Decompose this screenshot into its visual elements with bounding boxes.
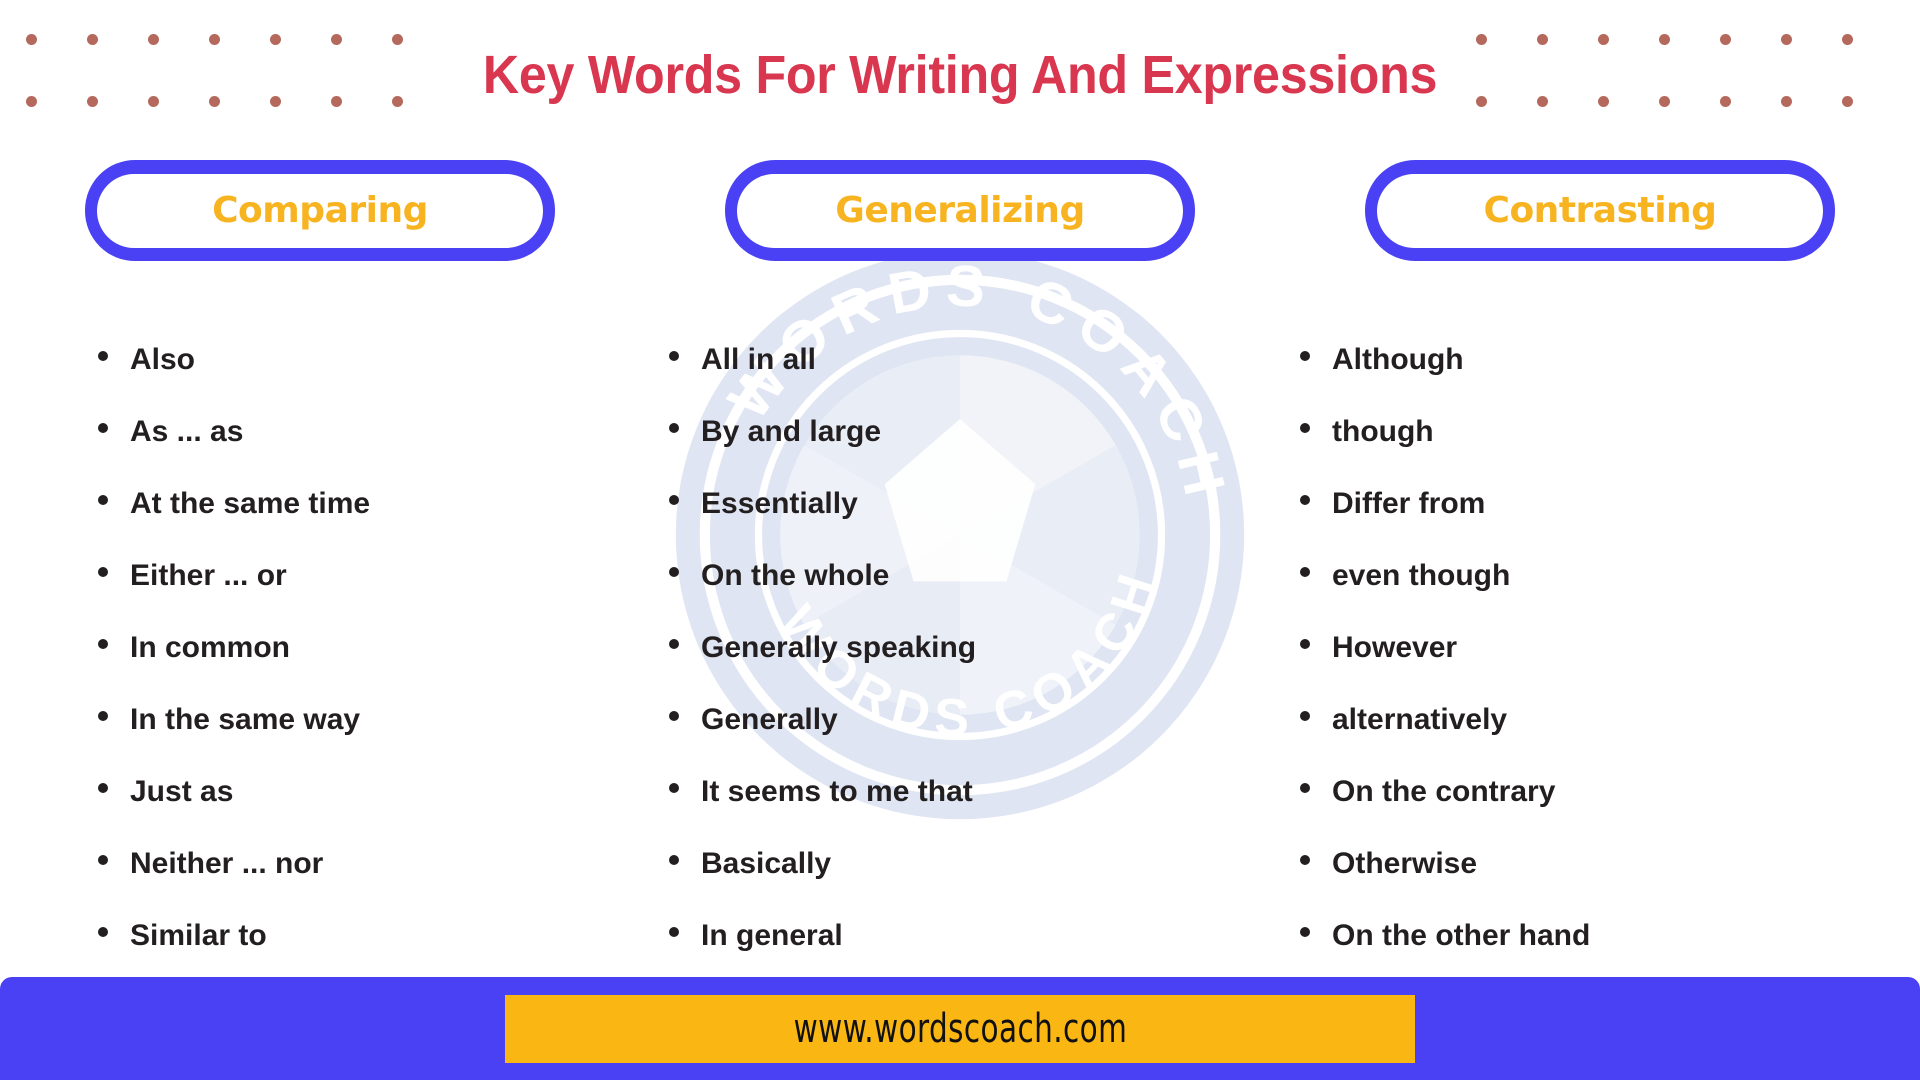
list-item-label: It seems to me that (701, 756, 973, 828)
bullet-icon (1300, 711, 1310, 721)
list-item-label: At the same time (130, 468, 370, 540)
word-list-generalizing: All in all By and large Essentially On t… (669, 324, 1309, 972)
bullet-icon (1300, 567, 1310, 577)
list-item: On the other hand (1300, 900, 1920, 972)
list-item-label: Although (1332, 324, 1464, 396)
list-item-label: On the other hand (1332, 900, 1590, 972)
list-item: On the contrary (1300, 756, 1920, 828)
list-item: By and large (669, 396, 1309, 468)
pill-header-contrasting: Contrasting (1365, 160, 1835, 261)
bullet-icon (98, 351, 108, 361)
list-item-label: Differ from (1332, 468, 1485, 540)
word-list-comparing: Also As ... as At the same time Either .… (0, 324, 640, 972)
list-item-label: On the contrary (1332, 756, 1555, 828)
bullet-icon (98, 423, 108, 433)
bullet-icon (669, 423, 679, 433)
footer-bar: www.wordscoach.com (0, 977, 1920, 1080)
list-item: All in all (669, 324, 1309, 396)
list-item: In common (98, 612, 640, 684)
bullet-icon (98, 639, 108, 649)
list-item-label: even though (1332, 540, 1510, 612)
list-item: It seems to me that (669, 756, 1309, 828)
decorative-dot (26, 34, 37, 45)
infographic-page: Key Words For Writing And Expressions (0, 0, 1920, 1080)
bullet-icon (669, 855, 679, 865)
bullet-icon (1300, 423, 1310, 433)
word-list-contrasting: Although though Differ from even though … (1300, 324, 1920, 972)
column-heading-comparing: Comparing (212, 190, 428, 231)
pill-inner-generalizing: Generalizing (737, 174, 1183, 248)
bullet-icon (98, 855, 108, 865)
list-item-label: However (1332, 612, 1457, 684)
list-item: In general (669, 900, 1309, 972)
list-item-label: In common (130, 612, 290, 684)
column-heading-contrasting: Contrasting (1484, 190, 1717, 231)
decorative-dot (26, 96, 37, 107)
list-item: Neither ... nor (98, 828, 640, 900)
bullet-icon (669, 783, 679, 793)
list-item-label: alternatively (1332, 684, 1507, 756)
list-item: Generally (669, 684, 1309, 756)
list-item: Although (1300, 324, 1920, 396)
list-item-label: Also (130, 324, 195, 396)
footer-url-box: www.wordscoach.com (505, 995, 1415, 1063)
list-item: Essentially (669, 468, 1309, 540)
list-item: On the whole (669, 540, 1309, 612)
list-item-label: All in all (701, 324, 816, 396)
bullet-icon (1300, 927, 1310, 937)
list-item: At the same time (98, 468, 640, 540)
list-item: Either ... or (98, 540, 640, 612)
website-url[interactable]: www.wordscoach.com (793, 1006, 1127, 1052)
bullet-icon (1300, 495, 1310, 505)
bullet-icon (1300, 855, 1310, 865)
list-item: As ... as (98, 396, 640, 468)
bullet-icon (669, 711, 679, 721)
list-item-label: Basically (701, 828, 831, 900)
columns-container: Comparing Also As ... as At the same tim… (0, 160, 1920, 950)
bullet-icon (1300, 639, 1310, 649)
pill-inner-contrasting: Contrasting (1377, 174, 1823, 248)
column-heading-generalizing: Generalizing (835, 190, 1084, 231)
bullet-icon (1300, 783, 1310, 793)
list-item-label: In general (701, 900, 843, 972)
list-item-label: Generally speaking (701, 612, 976, 684)
bullet-icon (669, 351, 679, 361)
list-item: Basically (669, 828, 1309, 900)
list-item: Also (98, 324, 640, 396)
list-item: In the same way (98, 684, 640, 756)
list-item: though (1300, 396, 1920, 468)
list-item-label: Neither ... nor (130, 828, 323, 900)
column-contrasting: Contrasting Although though Differ from … (1280, 160, 1920, 950)
pill-header-generalizing: Generalizing (725, 160, 1195, 261)
bullet-icon (98, 711, 108, 721)
list-item: However (1300, 612, 1920, 684)
list-item: even though (1300, 540, 1920, 612)
bullet-icon (98, 783, 108, 793)
list-item-label: In the same way (130, 684, 360, 756)
list-item-label: Just as (130, 756, 233, 828)
bullet-icon (98, 567, 108, 577)
list-item-label: Either ... or (130, 540, 287, 612)
list-item-label: Similar to (130, 900, 267, 972)
list-item-label: On the whole (701, 540, 889, 612)
bullet-icon (98, 927, 108, 937)
list-item: Differ from (1300, 468, 1920, 540)
bullet-icon (669, 639, 679, 649)
list-item: Otherwise (1300, 828, 1920, 900)
column-generalizing: Generalizing All in all By and large Ess… (640, 160, 1280, 950)
list-item: Generally speaking (669, 612, 1309, 684)
list-item-label: Otherwise (1332, 828, 1477, 900)
bullet-icon (669, 495, 679, 505)
bullet-icon (669, 927, 679, 937)
list-item-label: As ... as (130, 396, 243, 468)
bullet-icon (1300, 351, 1310, 361)
list-item-label: though (1332, 396, 1434, 468)
list-item-label: By and large (701, 396, 881, 468)
bullet-icon (669, 567, 679, 577)
bullet-icon (98, 495, 108, 505)
column-comparing: Comparing Also As ... as At the same tim… (0, 160, 640, 950)
page-title: Key Words For Writing And Expressions (67, 44, 1853, 106)
pill-header-comparing: Comparing (85, 160, 555, 261)
list-item: alternatively (1300, 684, 1920, 756)
list-item: Similar to (98, 900, 640, 972)
pill-inner-comparing: Comparing (97, 174, 543, 248)
list-item: Just as (98, 756, 640, 828)
list-item-label: Generally (701, 684, 838, 756)
list-item-label: Essentially (701, 468, 858, 540)
